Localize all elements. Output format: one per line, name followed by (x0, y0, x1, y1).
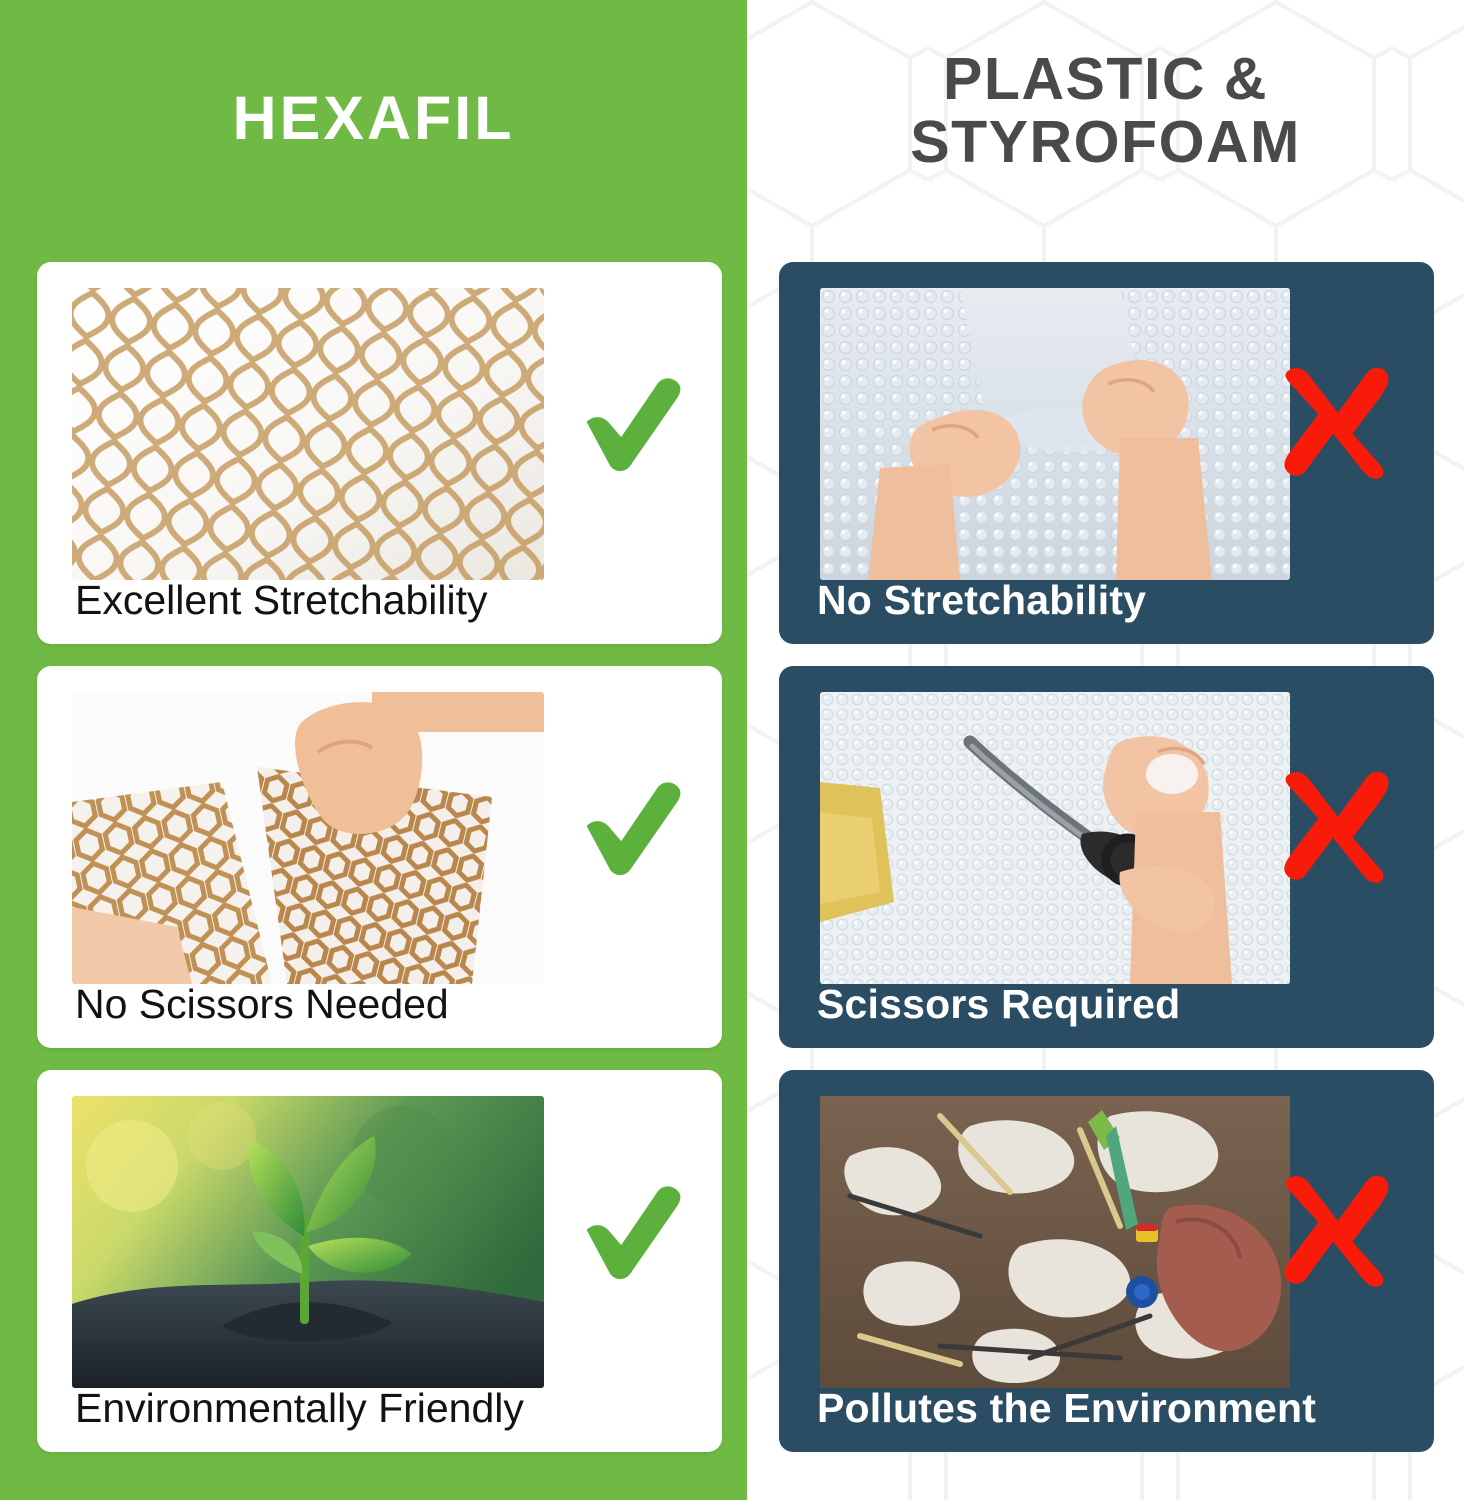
cross-icon (1272, 762, 1394, 884)
card-label: No Stretchability (817, 579, 1146, 622)
card-pollutes-the-environment[interactable]: Pollutes the Environment (779, 1070, 1434, 1452)
card-label: Scissors Required (817, 983, 1180, 1026)
check-icon (578, 772, 686, 880)
card-environmentally-friendly[interactable]: Environmentally Friendly (37, 1070, 722, 1452)
card-no-scissors-needed[interactable]: No Scissors Needed (37, 666, 722, 1048)
card-scissors-required[interactable]: Scissors Required (779, 666, 1434, 1048)
hexafil-brand-title: HEXAFIL (0, 86, 747, 151)
plastic-styrofoam-title-line1: PLASTIC & (761, 48, 1450, 111)
check-icon (578, 368, 686, 476)
green-seedling-sprout-in-soil-photo (72, 1096, 544, 1388)
card-label: Excellent Stretchability (75, 579, 487, 622)
hexafil-card-list: Excellent Stretchability (37, 262, 722, 1452)
card-excellent-stretchability[interactable]: Excellent Stretchability (37, 262, 722, 644)
hands-pulling-bubble-wrap-photo (820, 288, 1290, 580)
plastic-styrofoam-title: PLASTIC & STYROFOAM (747, 48, 1464, 173)
hand-tearing-honeycomb-paper-photo (72, 692, 544, 984)
cross-icon (1272, 1166, 1394, 1288)
plastic-styrofoam-title-line2: STYROFOAM (761, 111, 1450, 174)
cross-icon (1272, 358, 1394, 480)
card-label: Pollutes the Environment (817, 1387, 1316, 1430)
card-label: No Scissors Needed (75, 983, 449, 1026)
plastic-waste-litter-on-ground-photo (820, 1096, 1290, 1388)
card-no-stretchability[interactable]: No Stretchability (779, 262, 1434, 644)
scissors-cutting-bubble-wrap-photo (820, 692, 1290, 984)
card-label: Environmentally Friendly (75, 1387, 524, 1430)
honeycomb-kraft-paper-mesh-photo (72, 288, 544, 580)
plastic-card-list: No Stretchability (779, 262, 1434, 1452)
check-icon (578, 1176, 686, 1284)
